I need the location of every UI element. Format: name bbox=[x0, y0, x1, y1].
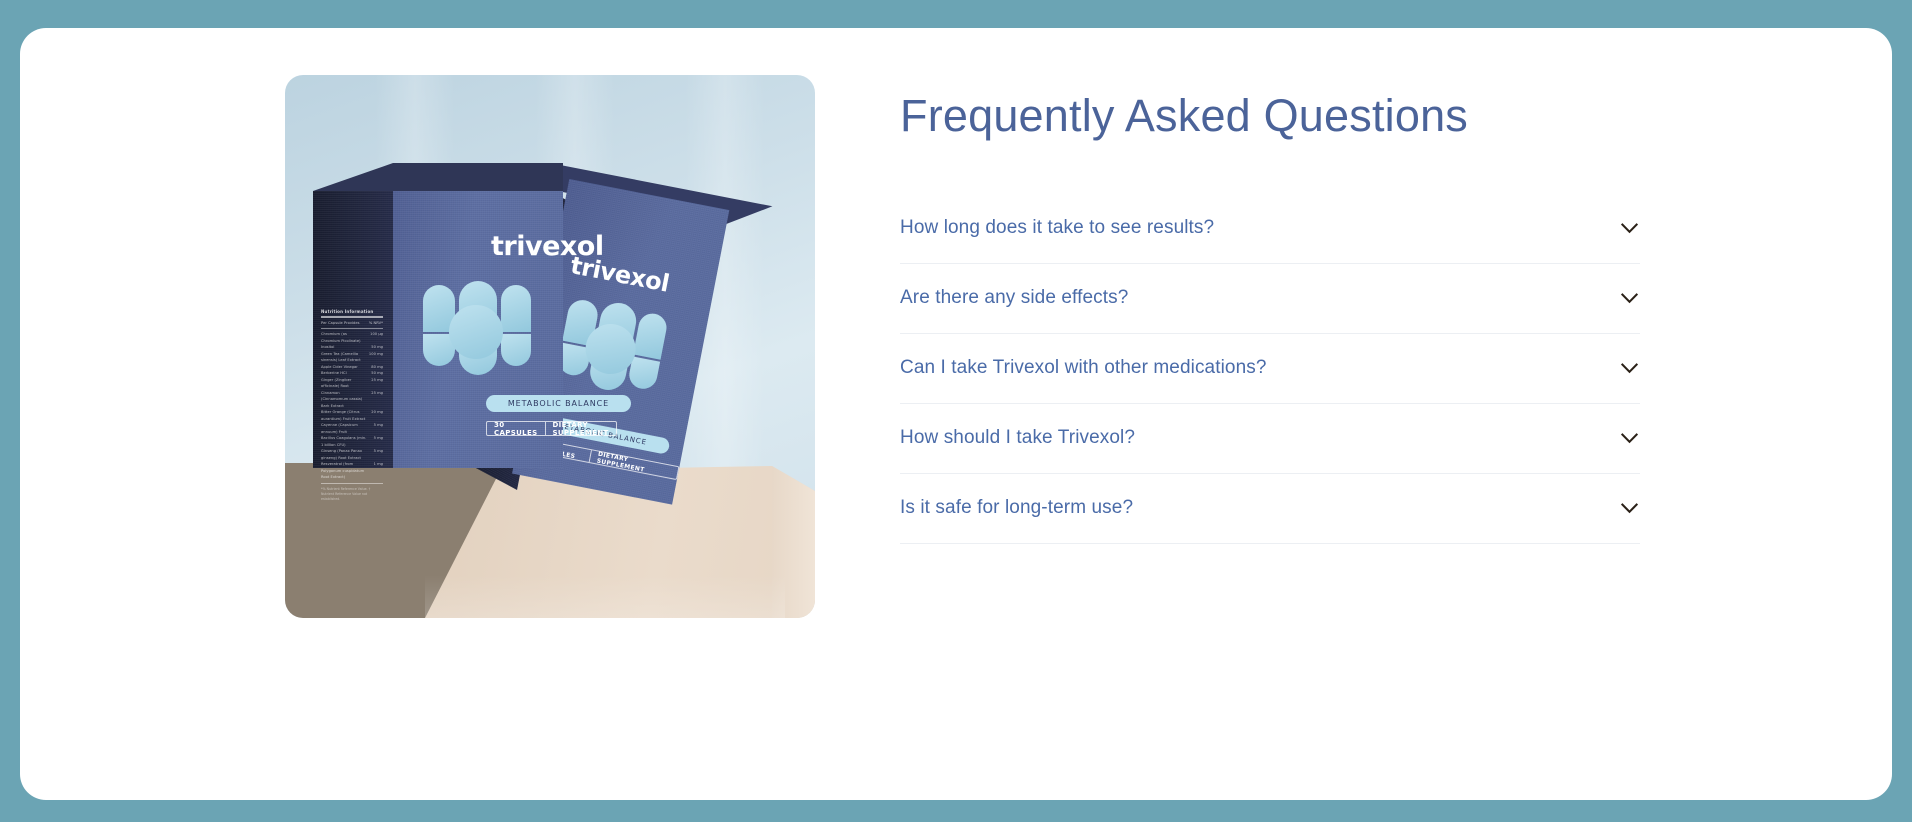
faq-item[interactable]: Is it safe for long-term use? bbox=[900, 474, 1640, 544]
nutrition-amount: 5 mg bbox=[374, 435, 383, 448]
faq-item[interactable]: Can I take Trivexol with other medicatio… bbox=[900, 334, 1640, 404]
nutrition-ingredient: Bitter Orange (Citrus aurantium) Fruit E… bbox=[321, 409, 367, 422]
category-front: DIETARY SUPPLEMENT bbox=[545, 422, 616, 435]
box-front-front-face: trivexol METABOLIC BALANCE 30 CAPSULES bbox=[393, 163, 563, 468]
faq-question-label: How should I take Trivexol? bbox=[900, 425, 1135, 451]
faq-page-card: trivexol METABOLIC BALANCE 30 CAPSULES bbox=[20, 28, 1892, 800]
nutrition-ingredient: Ginseng (Panax Panax ginseng) Root Extra… bbox=[321, 448, 370, 461]
faq-item[interactable]: How long does it take to see results? bbox=[900, 194, 1640, 264]
faq-section: Frequently Asked Questions How long does… bbox=[900, 88, 1640, 544]
capsule-mark-icon-back bbox=[554, 294, 670, 405]
box-front-top-face bbox=[313, 163, 563, 191]
chevron-down-icon[interactable] bbox=[1621, 223, 1638, 234]
nutrition-amount: 100 µg bbox=[370, 331, 383, 344]
faq-question-label: How long does it take to see results? bbox=[900, 215, 1214, 241]
faq-accordion-list: How long does it take to see results?Are… bbox=[900, 194, 1640, 544]
nutrition-panel: Nutrition Information Per Capsule Provid… bbox=[321, 309, 383, 502]
nutrition-amount: 25 mg bbox=[371, 377, 383, 390]
nutrition-amount: 1 mg bbox=[374, 461, 383, 481]
pedestal-highlight bbox=[425, 575, 785, 618]
nutrition-row: Ginger (Zingiber officinale) Root25 mg bbox=[321, 377, 383, 390]
faq-question-label: Are there any side effects? bbox=[900, 285, 1128, 311]
chevron-down-icon[interactable] bbox=[1621, 363, 1638, 374]
nutrition-row: Bacillus Coagulans (min. 1 billion CFU)5… bbox=[321, 435, 383, 448]
nutrition-rows: Chromium (as Chromium Picolinate)100 µgI… bbox=[321, 331, 383, 481]
capsule-mark-icon-front bbox=[423, 281, 531, 381]
nutrition-ingredient: Cayenne (Capsicum annuum) Fruit bbox=[321, 422, 370, 435]
faq-question-label: Is it safe for long-term use? bbox=[900, 495, 1133, 521]
metabolic-balance-badge-front: METABOLIC BALANCE bbox=[486, 395, 631, 412]
product-box-front: Nutrition Information Per Capsule Provid… bbox=[313, 163, 563, 468]
faq-question-label: Can I take Trivexol with other medicatio… bbox=[900, 355, 1267, 381]
nutrition-footnote: *% Nutrient Reference Value. † Nutrient … bbox=[321, 487, 383, 502]
nutrition-amount: 5 mg bbox=[374, 422, 383, 435]
nutrition-ingredient: Chromium (as Chromium Picolinate) bbox=[321, 331, 366, 344]
nutrition-row: Cinnamon (Cinnamomum cassia) Bark Extrac… bbox=[321, 390, 383, 410]
nutrition-ingredient: Cinnamon (Cinnamomum cassia) Bark Extrac… bbox=[321, 390, 367, 410]
nutrition-ingredient: Ginger (Zingiber officinale) Root bbox=[321, 377, 367, 390]
nutrition-ingredient: Resveratrol (from Polygonum cuspidatum R… bbox=[321, 461, 370, 481]
nutrition-amount: 20 mg bbox=[371, 409, 383, 422]
nutrition-ingredient: Bacillus Coagulans (min. 1 billion CFU) bbox=[321, 435, 370, 448]
faq-item[interactable]: Are there any side effects? bbox=[900, 264, 1640, 334]
nutrition-serving-label: Per Capsule Provides bbox=[321, 320, 360, 327]
faq-item[interactable]: How should I take Trivexol? bbox=[900, 404, 1640, 474]
content-row: trivexol METABOLIC BALANCE 30 CAPSULES bbox=[20, 28, 1892, 800]
nutrition-row: Ginseng (Panax Panax ginseng) Root Extra… bbox=[321, 448, 383, 461]
capsule-count-front: 30 CAPSULES bbox=[487, 422, 545, 435]
nutrition-row: Green Tea (Camellia sinensis) Leaf Extra… bbox=[321, 351, 383, 364]
nutrition-ingredient: Green Tea (Camellia sinensis) Leaf Extra… bbox=[321, 351, 365, 364]
brand-wordmark-front: trivexol bbox=[491, 231, 604, 262]
nutrition-rule bbox=[321, 483, 383, 484]
nutrition-panel-title: Nutrition Information bbox=[321, 309, 383, 314]
nutrition-row: Bitter Orange (Citrus aurantium) Fruit E… bbox=[321, 409, 383, 422]
page-title: Frequently Asked Questions bbox=[900, 88, 1640, 144]
nutrition-nrv-label: % NRV* bbox=[369, 320, 383, 327]
nutrition-row: Cayenne (Capsicum annuum) Fruit5 mg bbox=[321, 422, 383, 435]
nutrition-rule bbox=[321, 316, 383, 318]
chevron-down-icon[interactable] bbox=[1621, 503, 1638, 514]
nutrition-amount: 100 mg bbox=[369, 351, 383, 364]
nutrition-row: Resveratrol (from Polygonum cuspidatum R… bbox=[321, 461, 383, 481]
nutrition-header-row: Per Capsule Provides % NRV* bbox=[321, 320, 383, 327]
chevron-down-icon[interactable] bbox=[1621, 433, 1638, 444]
product-image: trivexol METABOLIC BALANCE 30 CAPSULES bbox=[285, 75, 815, 618]
nutrition-amount: 25 mg bbox=[371, 390, 383, 410]
nutrition-amount: 5 mg bbox=[374, 448, 383, 461]
nutrition-row: Chromium (as Chromium Picolinate)100 µg bbox=[321, 331, 383, 344]
spec-strip-front: 30 CAPSULES DIETARY SUPPLEMENT bbox=[486, 421, 617, 436]
box-front-side-face: Nutrition Information Per Capsule Provid… bbox=[313, 191, 393, 468]
nutrition-rule bbox=[321, 328, 383, 329]
chevron-down-icon[interactable] bbox=[1621, 293, 1638, 304]
